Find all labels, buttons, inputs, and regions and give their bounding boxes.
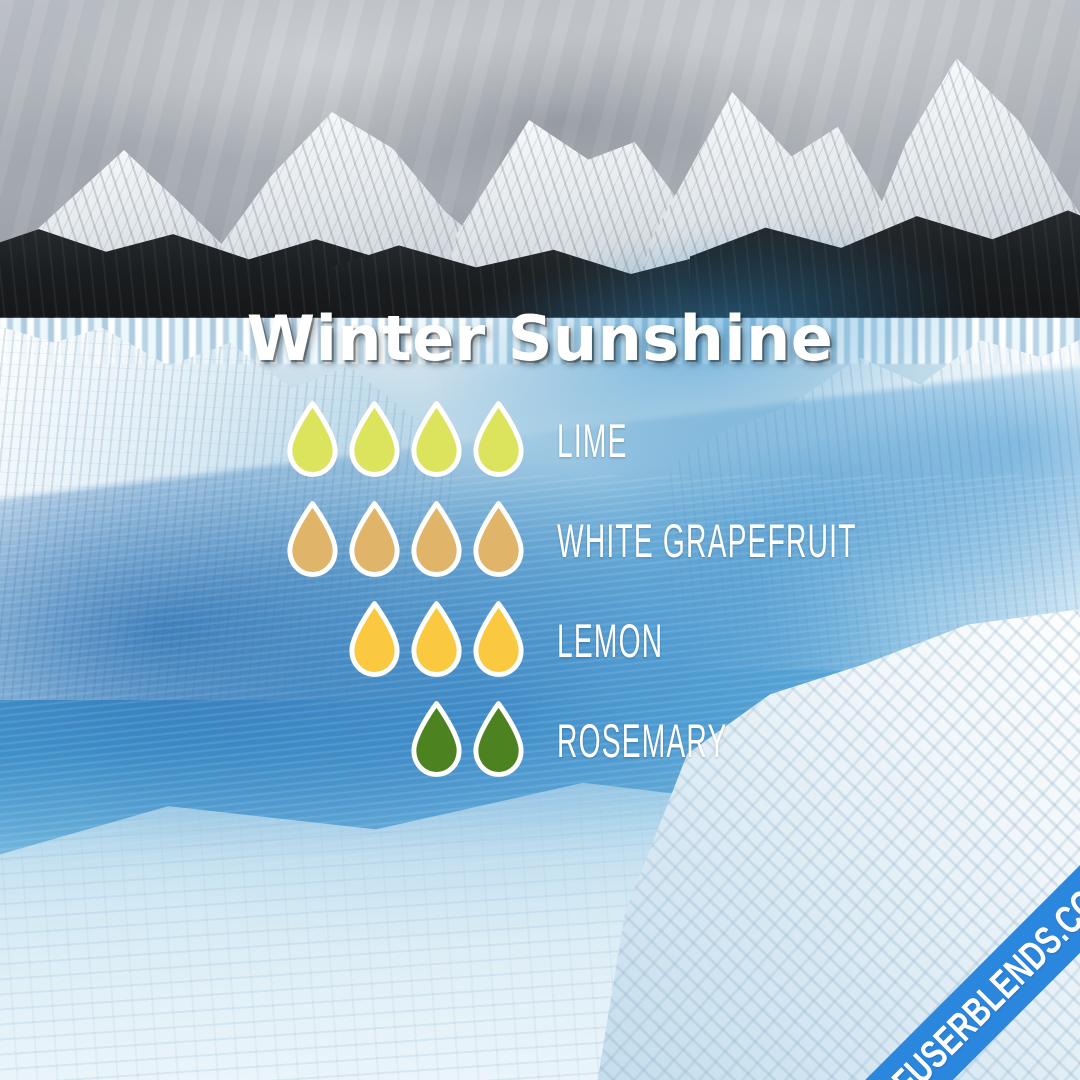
- oil-drop-icon: [345, 600, 404, 680]
- ingredient-row-lemon: LEMON: [0, 590, 1080, 690]
- poster-content: Winter Sunshine LIME WHITE GRAPEFRUIT LE…: [0, 0, 1080, 1080]
- oil-drop-icon: [407, 500, 466, 580]
- ingredient-label-lemon: LEMON: [557, 617, 663, 664]
- page-title: Winter Sunshine: [0, 308, 1080, 370]
- drop-count-lemon: [280, 600, 528, 680]
- drop-count-lime: [280, 400, 528, 480]
- ingredient-label-lime: LIME: [557, 417, 628, 464]
- oil-drop-icon: [469, 400, 528, 480]
- oil-drop-icon: [345, 500, 404, 580]
- ingredient-list: LIME WHITE GRAPEFRUIT LEMON ROSEMARY: [0, 390, 1080, 790]
- ingredient-label-white-grapefruit: WHITE GRAPEFRUIT: [557, 517, 857, 564]
- ingredient-row-rosemary: ROSEMARY: [0, 690, 1080, 790]
- ingredient-label-rosemary: ROSEMARY: [557, 717, 727, 764]
- diffuser-blend-poster: Winter Sunshine LIME WHITE GRAPEFRUIT LE…: [0, 0, 1080, 1080]
- oil-drop-icon: [345, 400, 404, 480]
- oil-drop-icon: [469, 500, 528, 580]
- oil-drop-icon: [283, 400, 342, 480]
- ingredient-row-lime: LIME: [0, 390, 1080, 490]
- oil-drop-icon: [407, 600, 466, 680]
- watermark-text: DIFFUSERBLENDS.COM: [850, 863, 1080, 1080]
- ingredient-row-white-grapefruit: WHITE GRAPEFRUIT: [0, 490, 1080, 590]
- oil-drop-icon: [407, 700, 466, 780]
- oil-drop-icon: [407, 400, 466, 480]
- oil-drop-icon: [283, 500, 342, 580]
- drop-count-rosemary: [280, 700, 528, 780]
- oil-drop-icon: [469, 700, 528, 780]
- drop-count-white-grapefruit: [280, 500, 528, 580]
- oil-drop-icon: [469, 600, 528, 680]
- watermark-ribbon[interactable]: DIFFUSERBLENDS.COM: [818, 831, 1080, 1080]
